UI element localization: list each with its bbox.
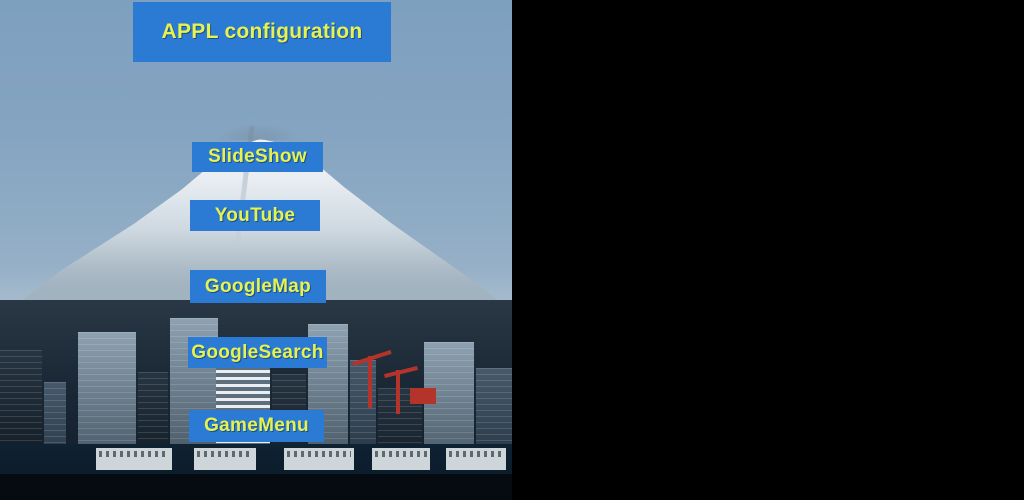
- menu-button-youtube[interactable]: YouTube: [190, 200, 320, 231]
- page-title: APPL configuration: [133, 2, 391, 62]
- menu-button-googlesearch[interactable]: GoogleSearch: [188, 337, 327, 368]
- type-of-games-panel: Type of games SCORE: 4 TIME: 238 2131751…: [512, 0, 1024, 500]
- menu-button-googlemap[interactable]: GoogleMap: [190, 270, 326, 303]
- menu-button-gamemenu[interactable]: GameMenu: [189, 410, 324, 442]
- yokohama-skyline: [0, 300, 512, 500]
- appl-configuration-panel: APPL configuration SlideShow YouTube Goo…: [0, 0, 512, 500]
- mount-fuji-crater: [215, 124, 301, 140]
- menu-button-slideshow[interactable]: SlideShow: [192, 142, 323, 172]
- app-root: APPL configuration SlideShow YouTube Goo…: [0, 0, 1024, 500]
